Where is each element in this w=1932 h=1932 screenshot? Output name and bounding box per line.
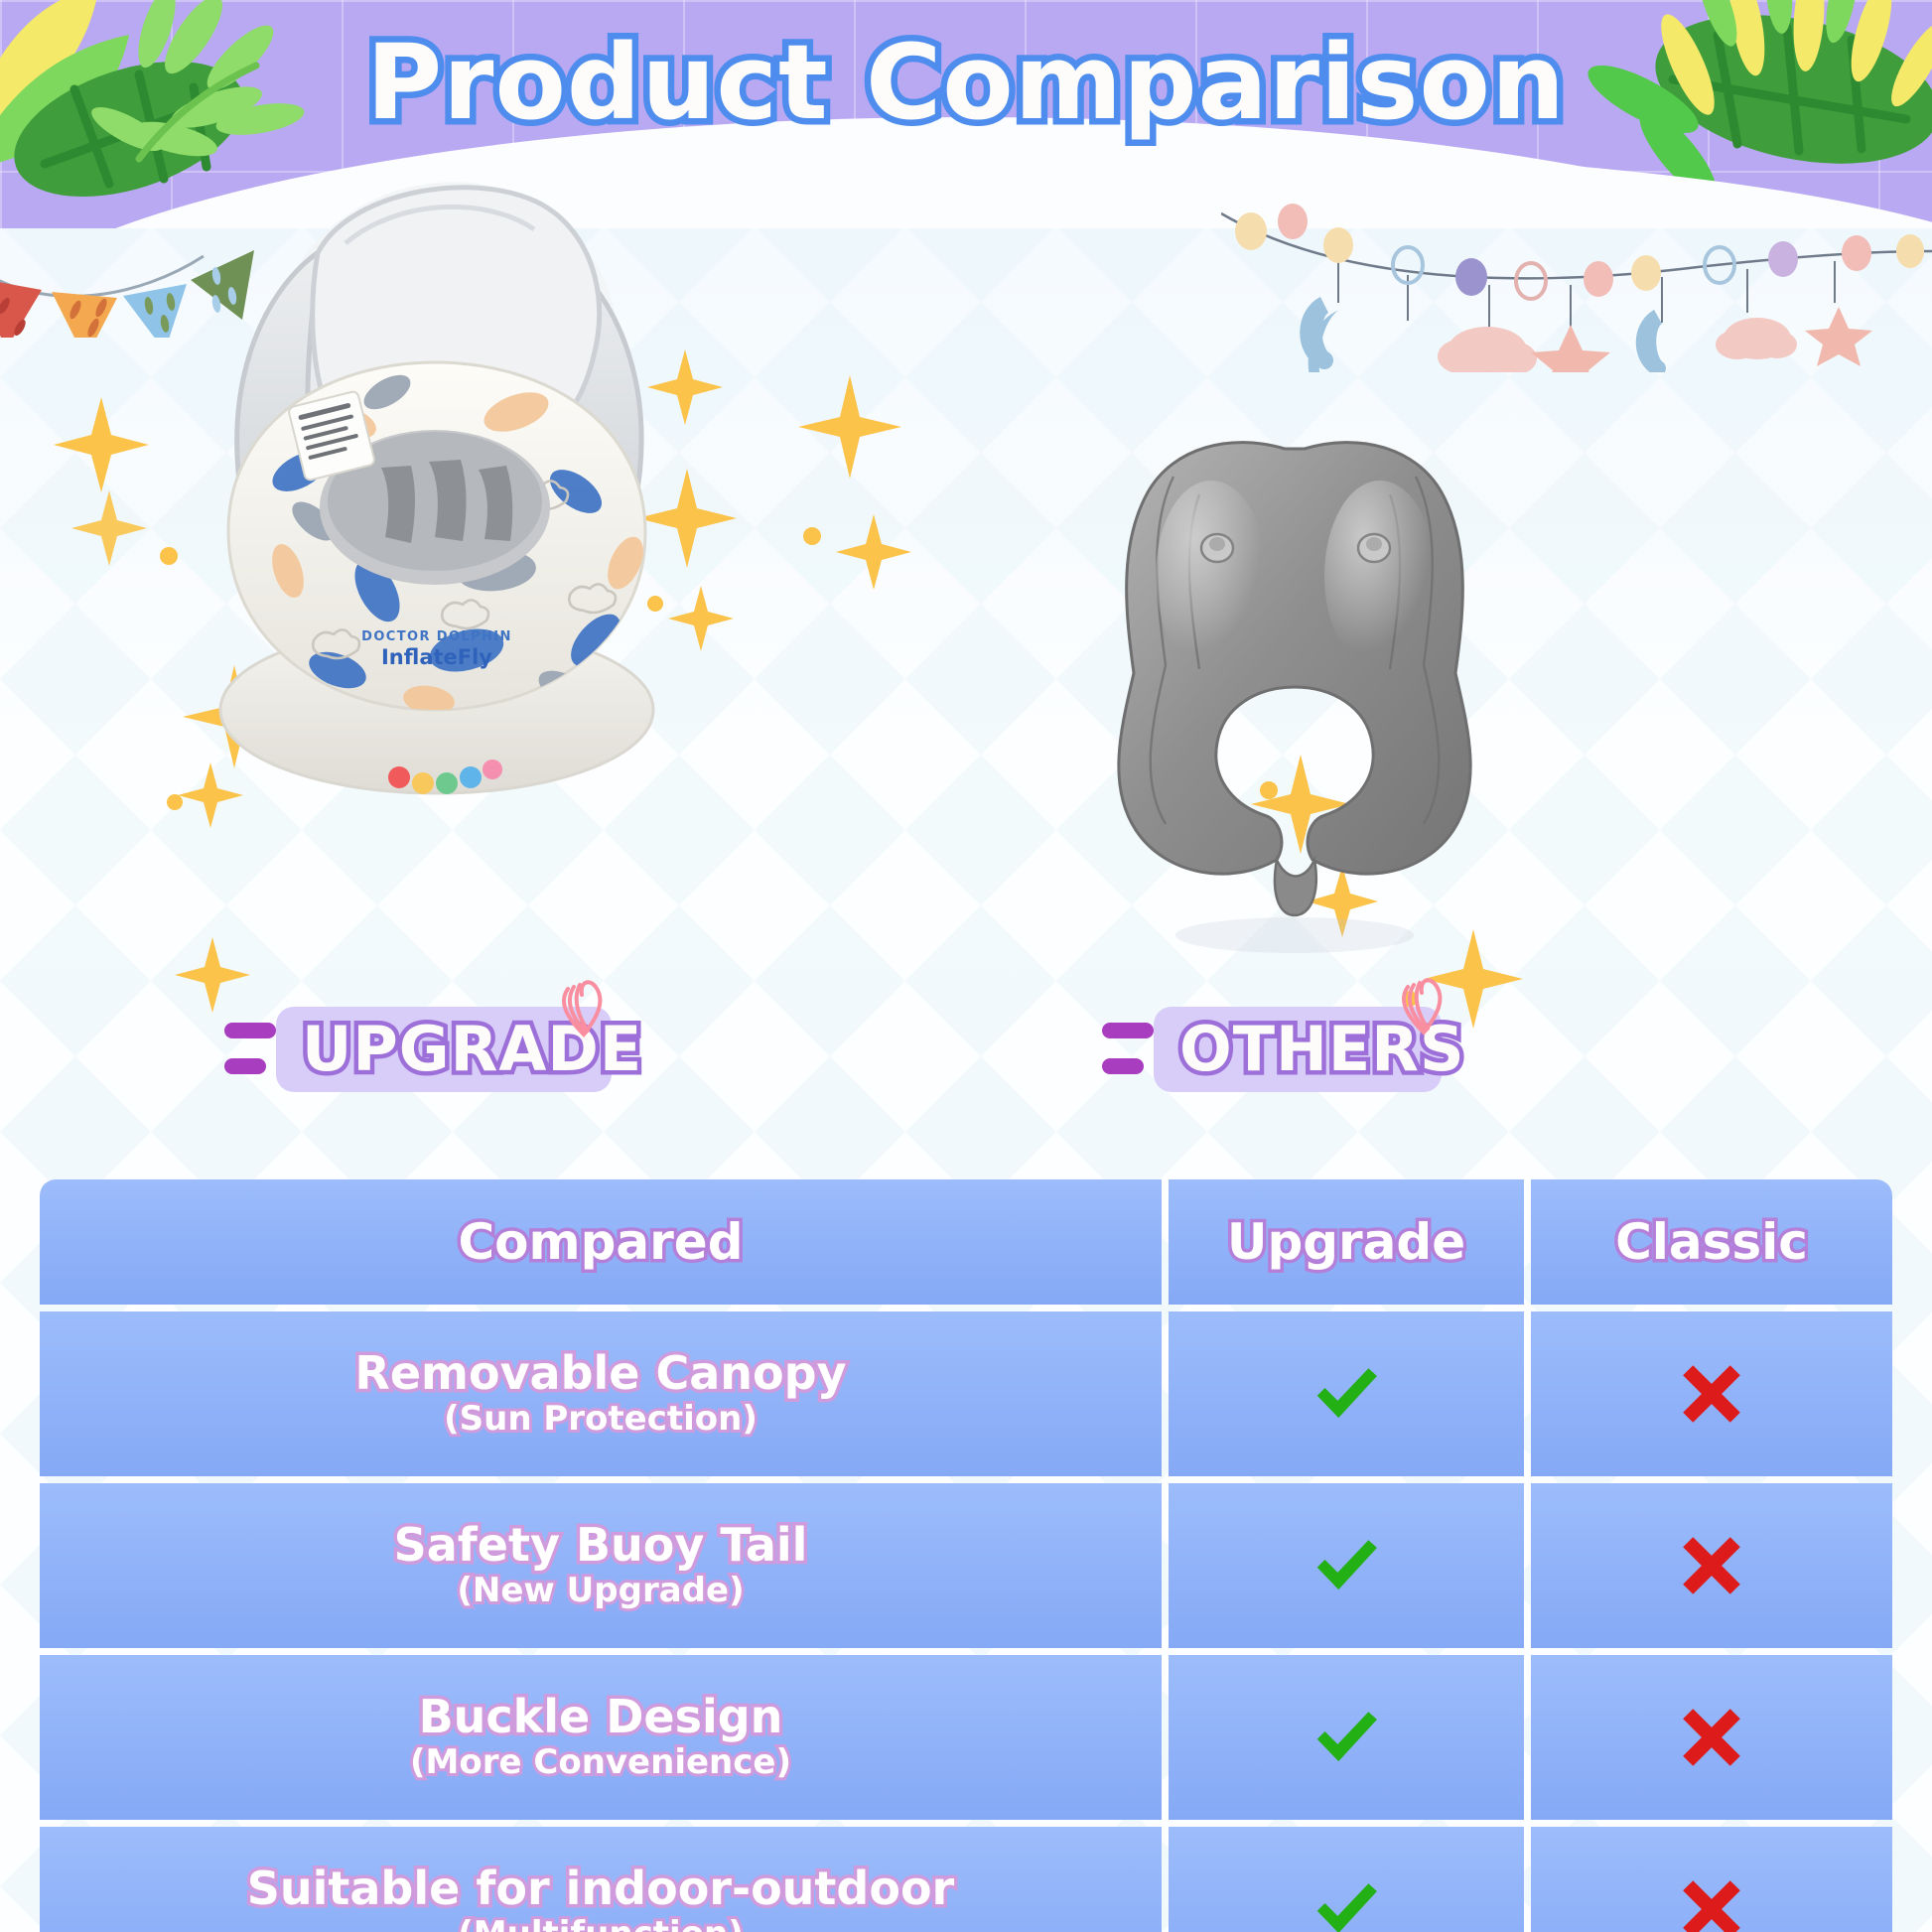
check-icon: [1304, 1695, 1389, 1780]
feature-title: Buckle Design: [419, 1693, 783, 1742]
upgrade-mark-cell: [1169, 1655, 1524, 1820]
feature-cell: Safety Buoy Tail (New Upgrade): [40, 1483, 1162, 1648]
upgrade-mark-cell: [1169, 1311, 1524, 1476]
table-header-row: Compared Upgrade Classic: [40, 1179, 1892, 1305]
cross-icon: [1676, 1358, 1747, 1430]
classic-mark-cell: [1531, 1827, 1892, 1932]
feature-title: Suitable for indoor-outdoor: [247, 1864, 954, 1914]
cross-icon: [1676, 1702, 1747, 1773]
heart-icon-others: [1388, 971, 1457, 1040]
feature-title: Safety Buoy Tail: [394, 1521, 808, 1571]
feature-cell: Suitable for indoor-outdoor (Multifuncti…: [40, 1827, 1162, 1932]
feature-detail: (New Upgrade): [457, 1572, 744, 1610]
classic-mark-cell: [1531, 1311, 1892, 1476]
page-title-text: Product Comparison: [366, 22, 1566, 143]
heart-icon-upgrade: [548, 973, 618, 1042]
feature-cell: Removable Canopy (Sun Protection): [40, 1311, 1162, 1476]
table-header-upgrade-label: Upgrade: [1227, 1213, 1465, 1271]
cross-icon: [1676, 1873, 1747, 1932]
upgrade-mark-cell: [1169, 1827, 1524, 1932]
product-comparison-infographic: Product Comparison: [0, 0, 1932, 1932]
list-dash-icon: [224, 1023, 278, 1076]
feature-detail: (Multifunction): [458, 1915, 744, 1932]
table-header-compared: Compared: [40, 1179, 1162, 1305]
feature-detail: (More Convenience): [410, 1743, 791, 1782]
table-row: Buckle Design (More Convenience): [40, 1655, 1892, 1820]
classic-mark-cell: [1531, 1655, 1892, 1820]
list-dash-icon: [1102, 1023, 1156, 1076]
upgrade-mark-cell: [1169, 1483, 1524, 1648]
comparison-table: Compared Upgrade Classic Removable Canop…: [40, 1179, 1892, 1932]
check-icon: [1304, 1523, 1389, 1608]
feature-cell: Buckle Design (More Convenience): [40, 1655, 1162, 1820]
table-header-classic-label: Classic: [1615, 1213, 1808, 1271]
table-row: Safety Buoy Tail (New Upgrade): [40, 1483, 1892, 1648]
feature-title: Removable Canopy: [354, 1349, 846, 1399]
classic-mark-cell: [1531, 1483, 1892, 1648]
table-header-compared-label: Compared: [458, 1213, 743, 1271]
table-row: Removable Canopy (Sun Protection): [40, 1311, 1892, 1476]
table-row: Suitable for indoor-outdoor (Multifuncti…: [40, 1827, 1892, 1932]
table-header-classic: Classic: [1531, 1179, 1892, 1305]
cross-icon: [1676, 1530, 1747, 1601]
table-header-upgrade: Upgrade: [1169, 1179, 1524, 1305]
check-icon: [1304, 1351, 1389, 1437]
check-icon: [1304, 1866, 1389, 1932]
feature-detail: (Sun Protection): [444, 1400, 758, 1439]
page-title: Product Comparison: [0, 22, 1932, 143]
